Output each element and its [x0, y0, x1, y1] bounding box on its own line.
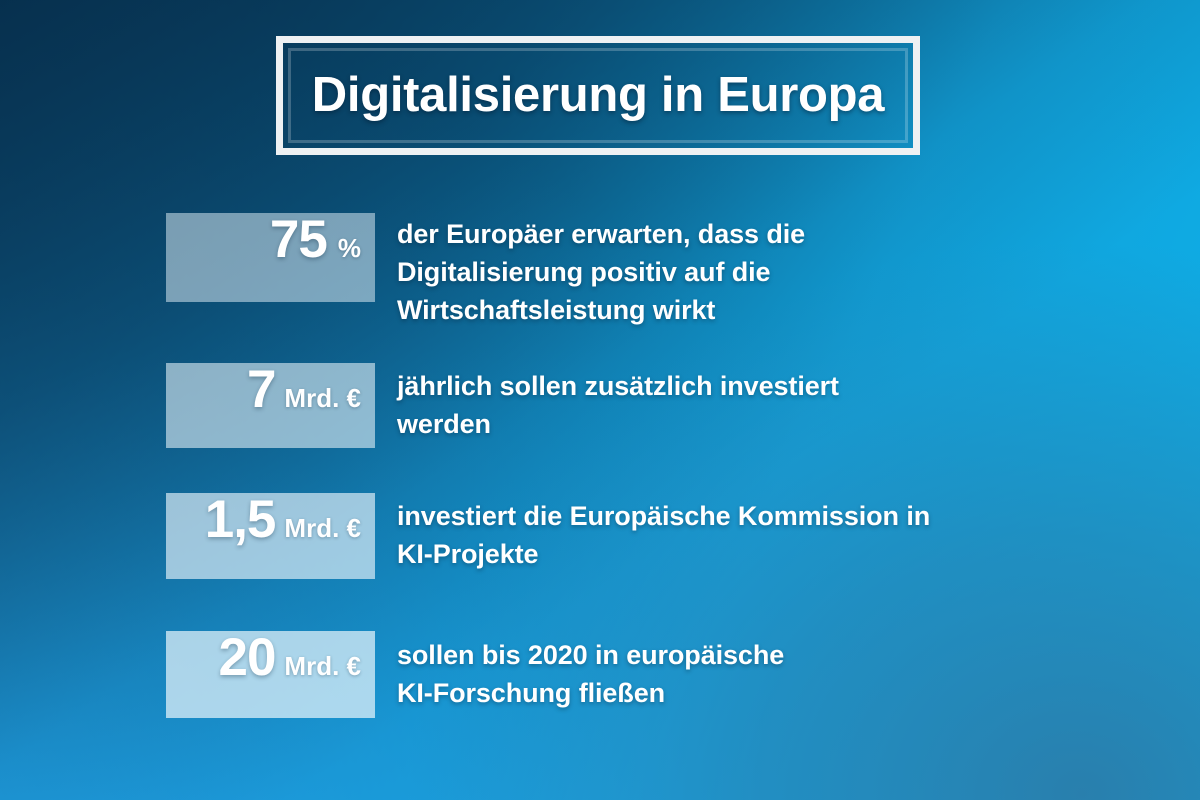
- stat-value-box: 7 Mrd. €: [166, 363, 375, 448]
- stat-description: der Europäer erwarten, dass die Digitali…: [397, 213, 805, 329]
- stat-value-box: 20 Mrd. €: [166, 631, 375, 718]
- stat-value-number: 75: [270, 213, 327, 266]
- stat-row: 75 % der Europäer erwarten, dass die Dig…: [166, 213, 805, 329]
- stat-description: sollen bis 2020 in europäische KI-Forsch…: [397, 631, 784, 712]
- stat-value-unit: Mrd. €: [284, 385, 361, 411]
- stat-value-box: 75 %: [166, 213, 375, 302]
- infographic-poster: Digitalisierung in Europa 75 % der Europ…: [0, 0, 1200, 800]
- stat-value-unit: %: [338, 235, 361, 261]
- stat-value-unit: Mrd. €: [284, 653, 361, 679]
- stat-description: jährlich sollen zusätzlich investiert we…: [397, 363, 839, 443]
- stat-value-number: 20: [218, 631, 275, 684]
- stat-row: 7 Mrd. € jährlich sollen zusätzlich inve…: [166, 363, 839, 448]
- title-frame: Digitalisierung in Europa: [276, 36, 920, 155]
- stat-row: 1,5 Mrd. € investiert die Europäische Ko…: [166, 493, 930, 579]
- stat-value-unit: Mrd. €: [284, 515, 361, 541]
- stat-value-number: 1,5: [205, 493, 276, 546]
- stat-description: investiert die Europäische Kommission in…: [397, 493, 930, 573]
- stat-value-number: 7: [247, 363, 275, 416]
- stat-value-box: 1,5 Mrd. €: [166, 493, 375, 579]
- page-title: Digitalisierung in Europa: [312, 71, 884, 120]
- stat-row: 20 Mrd. € sollen bis 2020 in europäische…: [166, 631, 784, 718]
